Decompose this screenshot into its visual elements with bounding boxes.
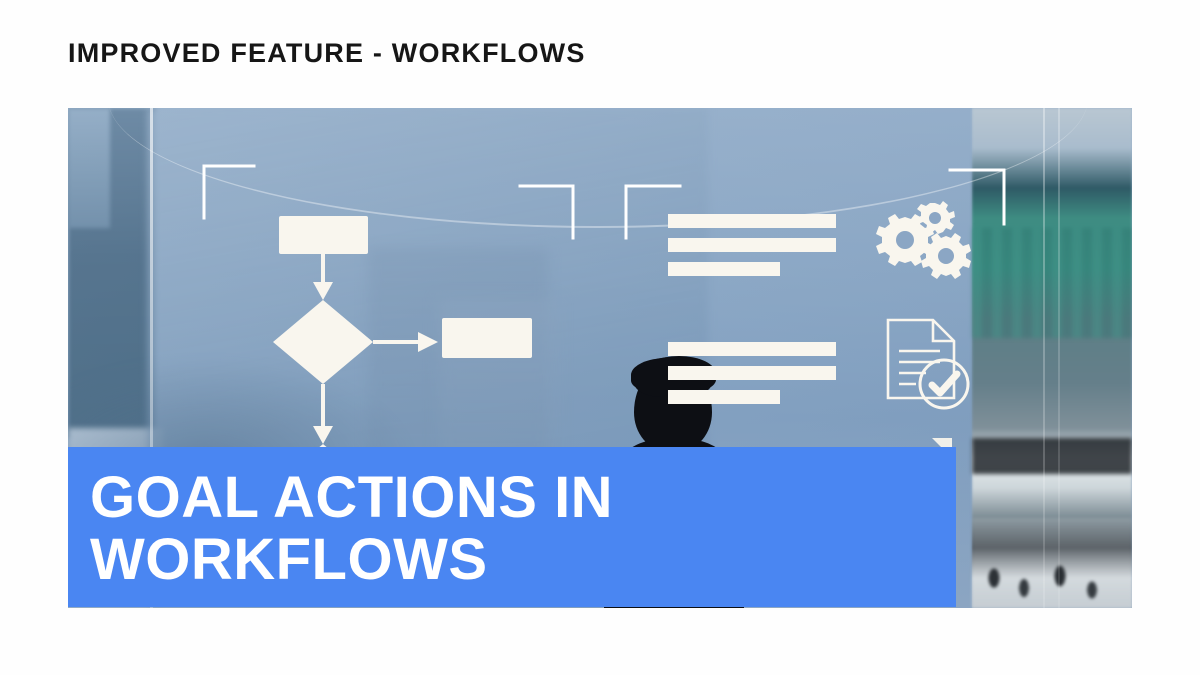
caption-banner: Goal Actions in Workflows — [68, 447, 956, 607]
banner-headline: Goal Actions in Workflows — [90, 467, 613, 591]
text-bar-2a — [668, 342, 836, 356]
flowchart-arrowhead-3 — [313, 426, 333, 444]
flowchart-start-box — [279, 216, 368, 254]
text-bar-1b — [668, 238, 836, 252]
bracket-top-left-icon — [204, 166, 254, 218]
bracket-top-center-right-icon — [520, 186, 573, 238]
flowchart-outcome-box-1 — [442, 318, 532, 358]
text-bar-1c — [668, 262, 780, 276]
slide-canvas: IMPROVED FEATURE - WORKFLOWS — [0, 0, 1200, 675]
page-title: IMPROVED FEATURE - WORKFLOWS — [68, 38, 586, 69]
flowchart-arrowhead-1 — [313, 282, 333, 300]
flowchart-decision-diamond-1 — [273, 300, 373, 384]
text-bar-2c — [668, 390, 780, 404]
text-bar-1a — [668, 214, 836, 228]
approval-check-badge-icon — [920, 360, 968, 408]
bracket-top-right-icon — [950, 170, 1004, 224]
gears-icon — [876, 201, 971, 279]
flowchart-arrowhead-2 — [418, 332, 438, 352]
bracket-top-center-left-icon — [626, 186, 680, 238]
text-bar-2b — [668, 366, 836, 380]
